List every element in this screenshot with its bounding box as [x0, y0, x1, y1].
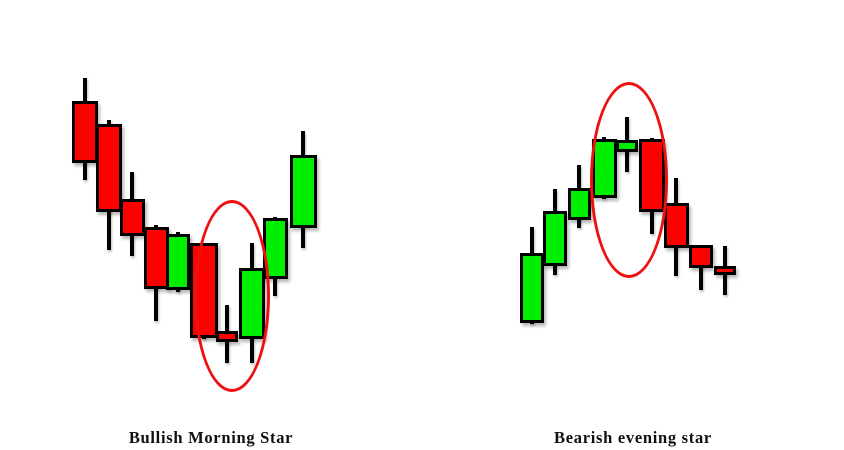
- morning-star-highlight-ellipse: [194, 200, 270, 392]
- candle-1-body: [520, 253, 544, 323]
- candle-3-body: [120, 199, 145, 236]
- candle-3-body: [568, 188, 591, 220]
- candle-5-body: [166, 234, 190, 290]
- candle-4-body: [144, 227, 169, 289]
- candle-1-body: [72, 101, 98, 163]
- candle-9-doji-body: [714, 266, 736, 275]
- chart-area-bullish-morning-star: [0, 0, 422, 410]
- evening-star-highlight-ellipse: [590, 82, 668, 278]
- chart-area-bearish-evening-star: [422, 0, 844, 410]
- caption-bearish-evening-star: Bearish evening star: [422, 428, 844, 448]
- candle-8-body: [689, 245, 713, 268]
- candle-2-body: [96, 124, 122, 212]
- caption-bullish-morning-star: Bullish Morning Star: [0, 428, 422, 448]
- candle-2-body: [543, 211, 567, 266]
- candle-10-body: [290, 155, 317, 228]
- panel-bullish-morning-star: Bullish Morning Star: [0, 0, 422, 450]
- candlestick-figure: Bullish Morning Star Bearish evening sta…: [0, 0, 844, 450]
- panel-bearish-evening-star: Bearish evening star: [422, 0, 844, 450]
- candle-7-body: [664, 203, 689, 248]
